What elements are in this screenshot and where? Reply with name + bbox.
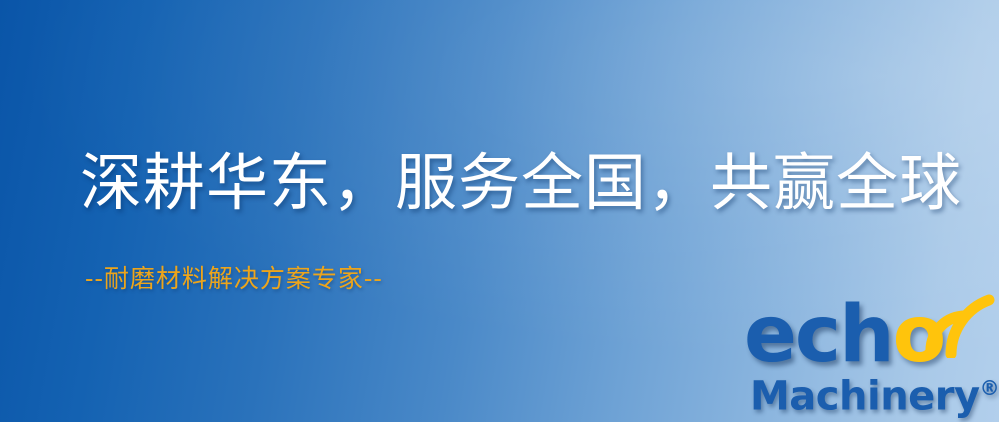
signal-waves-icon bbox=[922, 292, 999, 358]
company-logo: echo Machinery® bbox=[744, 296, 999, 422]
registered-trademark-icon: ® bbox=[980, 376, 999, 400]
logo-wordmark-prefix: ech bbox=[744, 290, 893, 380]
promo-banner: 深耕华东，服务全国，共赢全球 --耐磨材料解决方案专家-- echo Machi… bbox=[0, 0, 999, 422]
banner-headline: 深耕华东，服务全国，共赢全球 bbox=[80, 152, 962, 214]
logo-subtext-label: Machinery bbox=[750, 373, 980, 419]
logo-wordmark: echo bbox=[744, 296, 944, 374]
logo-subtext: Machinery® bbox=[750, 368, 999, 416]
banner-subheadline: --耐磨材料解决方案专家-- bbox=[85, 266, 383, 291]
